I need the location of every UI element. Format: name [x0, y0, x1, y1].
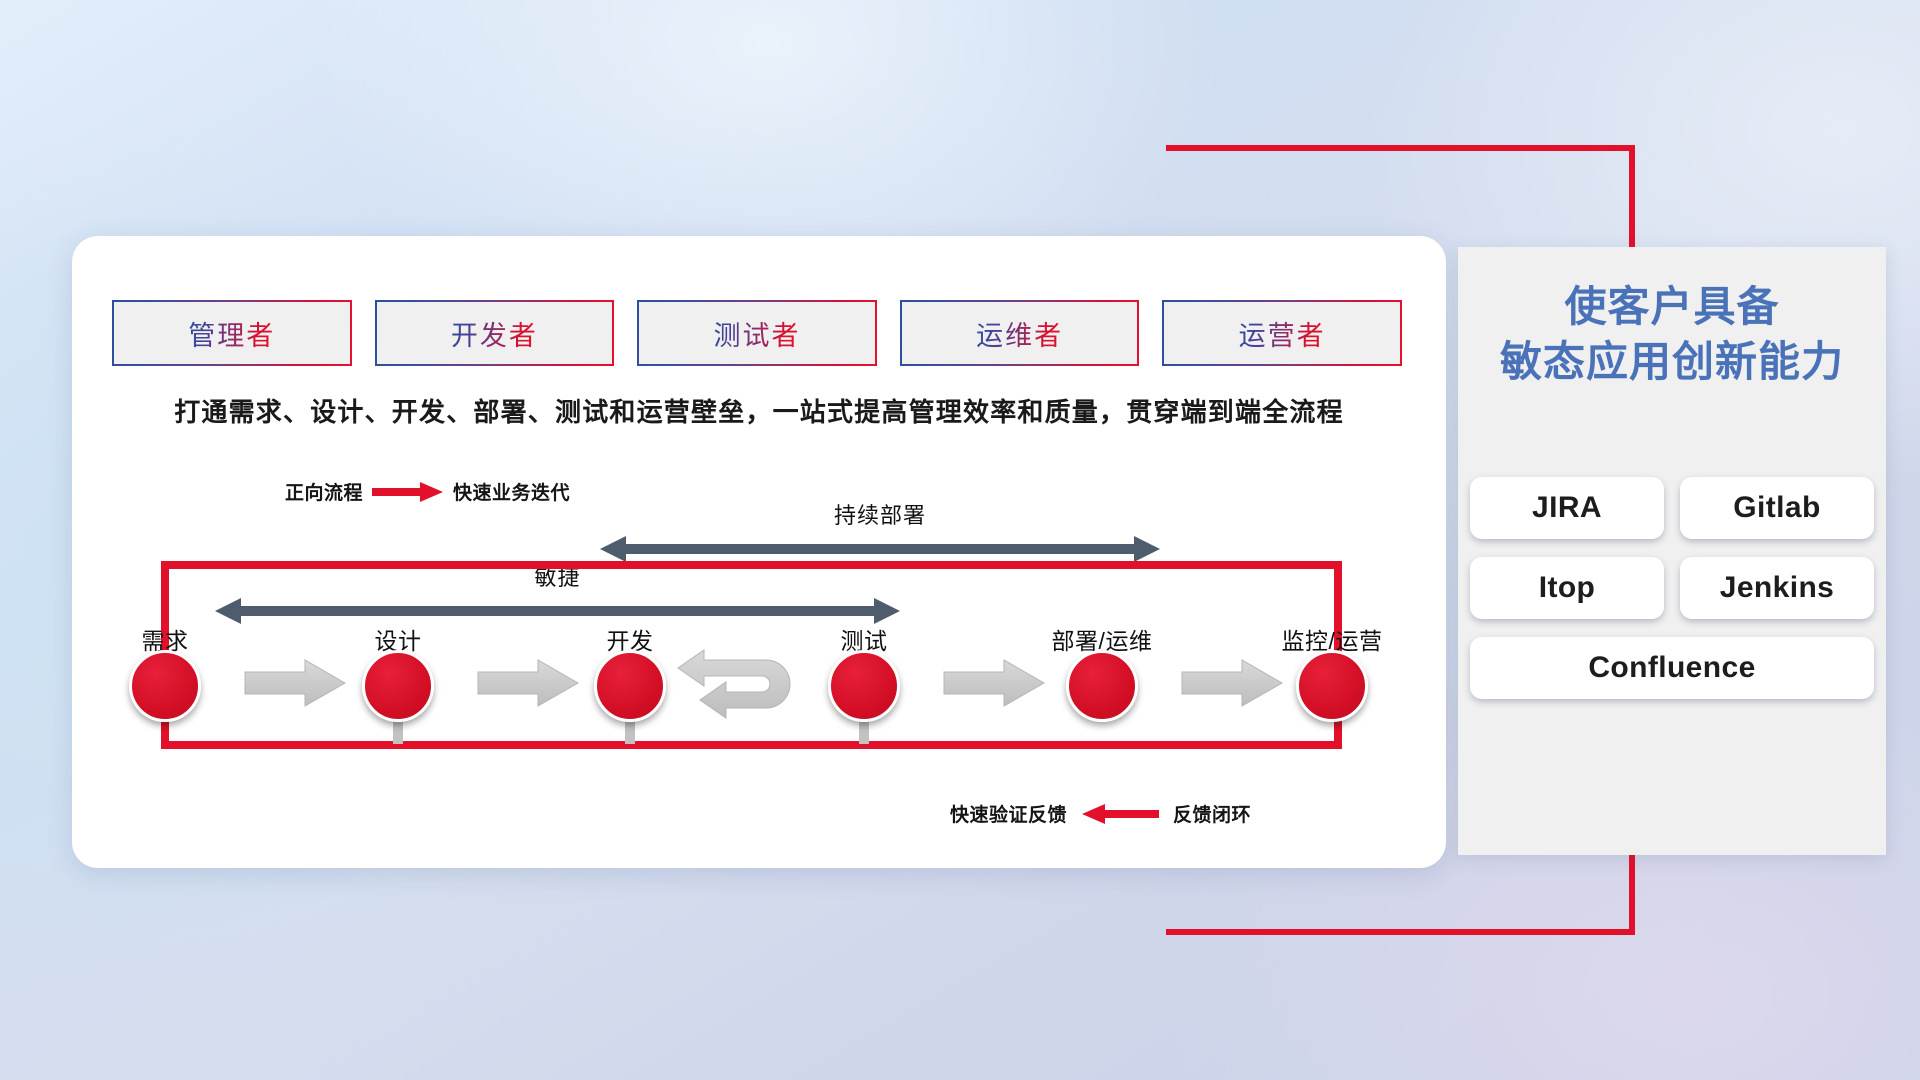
- tool-chip-gitlab[interactable]: Gitlab: [1680, 477, 1874, 539]
- stage-node-test[interactable]: [828, 650, 900, 722]
- stage-node-requirement[interactable]: [129, 650, 201, 722]
- tool-chip-list: JIRA Gitlab Itop Jenkins Confluence: [1470, 477, 1874, 699]
- side-panel-title-line1: 使客户具备: [1458, 279, 1886, 334]
- legend-feedback-loop: 快速验证反馈 反馈闭环: [950, 800, 1251, 827]
- arrow-left-red-icon: [1081, 803, 1159, 825]
- tool-chip-jira[interactable]: JIRA: [1470, 477, 1664, 539]
- side-panel: 使客户具备 敏态应用创新能力 JIRA Gitlab Itop Jenkins …: [1458, 247, 1886, 855]
- side-panel-title: 使客户具备 敏态应用创新能力: [1458, 279, 1886, 390]
- stage-node-deploy-ops[interactable]: [1066, 650, 1138, 722]
- side-panel-title-line2: 敏态应用创新能力: [1458, 334, 1886, 389]
- slide-canvas: 管理者 开发者 测试者 运维者 运营者 打通需求、设计、开发、部署、测试和运营壁…: [0, 0, 1920, 1080]
- tool-chip-jenkins[interactable]: Jenkins: [1680, 557, 1874, 619]
- tool-chip-confluence[interactable]: Confluence: [1470, 637, 1874, 699]
- legend-feedback-right-label: 反馈闭环: [1173, 800, 1251, 827]
- tool-chip-itop[interactable]: Itop: [1470, 557, 1664, 619]
- stage-node-develop[interactable]: [594, 650, 666, 722]
- stage-node-monitor-operations[interactable]: [1296, 650, 1368, 722]
- legend-feedback-left-label: 快速验证反馈: [950, 800, 1067, 827]
- stage-node-design[interactable]: [362, 650, 434, 722]
